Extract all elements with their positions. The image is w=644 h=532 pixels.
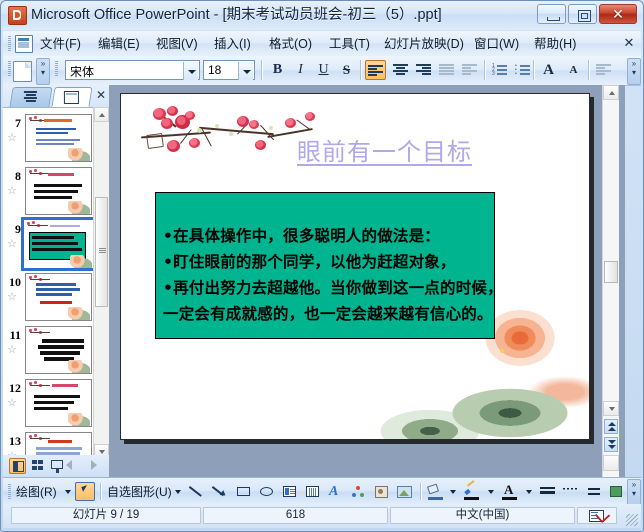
menu-grip[interactable] [8, 36, 11, 51]
font-size-dropdown-arrow[interactable] [238, 62, 253, 80]
next-slide-double-arrow[interactable] [604, 437, 618, 452]
line-button[interactable] [187, 482, 207, 501]
font-size-combo[interactable]: 18 [203, 60, 255, 80]
thumbnail-scrollbar[interactable] [93, 107, 109, 459]
thumbnail-image[interactable] [25, 273, 92, 321]
content-text-box[interactable]: •在具体操作中，很多聪明人的做法是： •盯住眼前的那个同学，以他为赶超对象， •… [155, 192, 495, 339]
normal-view-button[interactable] [9, 458, 26, 474]
window-title: Microsoft Office PowerPoint - [期末考试动员班会-… [31, 4, 442, 26]
thumbnail-number: 10 [5, 275, 21, 290]
shadow-style-icon [610, 486, 622, 497]
vertical-text-box-button[interactable] [302, 482, 322, 501]
pane-tab-strip: ✕ [3, 85, 109, 107]
resize-grip[interactable] [626, 514, 638, 526]
slides-pane: ✕ 7 ☆ [3, 85, 109, 477]
menu-item-window[interactable]: 窗口(W) [471, 35, 522, 53]
slide-show-button[interactable] [49, 458, 66, 474]
drawbar-separator-1 [100, 483, 102, 500]
minimize-icon [547, 17, 560, 21]
design-template-field: 618 [203, 507, 388, 524]
arrow-button[interactable] [210, 482, 230, 501]
slide-sorter-icon [32, 460, 44, 471]
drawbar-separator-2 [420, 483, 422, 500]
view-button-bar [3, 455, 109, 477]
menu-item-insert[interactable]: 插入(I) [211, 35, 254, 53]
toolbar-separator-5 [588, 60, 590, 80]
insert-wordart-button[interactable]: A [325, 482, 345, 501]
toolbar-grip-1[interactable] [8, 61, 11, 76]
list-item[interactable]: 11 ☆ [3, 324, 95, 371]
align-justify-button[interactable] [436, 60, 457, 80]
chevron-up-icon [99, 113, 105, 117]
thumbnail-number: 13 [5, 434, 21, 449]
line-icon [190, 486, 204, 497]
toolbar-separator-2 [360, 60, 362, 80]
thumbnail-image[interactable] [25, 379, 92, 427]
line-style-button[interactable] [537, 482, 557, 501]
shadow-button[interactable]: S [336, 60, 357, 80]
line-spacing-button[interactable] [459, 60, 480, 80]
insert-picture-button[interactable] [394, 482, 414, 501]
scroll-up-button[interactable] [94, 107, 109, 122]
rectangle-icon [237, 487, 250, 496]
spell-check-icon [589, 510, 604, 522]
insert-diagram-button[interactable] [348, 482, 368, 501]
numbered-list-icon: 123 [492, 64, 507, 76]
toolbar-overflow-button-1[interactable]: »▾ [36, 58, 50, 85]
font-name-value: 宋体 [70, 63, 94, 80]
thumbnail-number: 11 [5, 328, 21, 343]
dash-style-icon [563, 488, 578, 495]
drawbar-overflow-button[interactable]: »▾ [627, 479, 641, 506]
sun-dot-icon [500, 349, 504, 353]
toolbar-separator-4 [533, 60, 535, 80]
font-color-a-icon: A [504, 483, 513, 496]
bold-button[interactable]: B [267, 60, 288, 80]
text-box-icon [283, 486, 296, 497]
menu-item-file[interactable]: 文件(F) [37, 35, 84, 53]
spell-check-button[interactable] [577, 507, 617, 524]
animation-star-icon: ☆ [7, 344, 21, 357]
animation-star-icon: ☆ [7, 238, 21, 251]
slide-vertical-scrollbar[interactable] [602, 85, 619, 477]
slide-sorter-view-button[interactable] [29, 458, 46, 474]
maximize-button[interactable] [568, 4, 597, 24]
language-indicator: 中文(中国) [390, 507, 575, 524]
maximize-icon [578, 10, 591, 22]
align-right-button[interactable] [413, 60, 434, 80]
bulleted-list-icon: ••• [515, 64, 530, 76]
line-spacing-icon [462, 64, 477, 76]
animation-star-icon: ☆ [7, 132, 21, 145]
align-right-icon [416, 64, 431, 76]
chevron-down-icon[interactable] [450, 490, 456, 494]
document-icon [15, 35, 33, 53]
menu-item-view[interactable]: 视图(V) [153, 35, 201, 53]
minimize-button[interactable] [537, 4, 566, 24]
draw-menu-button[interactable]: 绘图(R) [16, 484, 57, 500]
chevron-down-icon[interactable] [488, 490, 494, 494]
next-slide-button[interactable] [91, 460, 97, 470]
decrease-indent-icon [596, 64, 611, 76]
slide-title[interactable]: 眼前有一个目标 [297, 132, 577, 167]
autoshapes-menu-button[interactable]: 自选图形(U) [107, 484, 172, 500]
underline-button[interactable]: U [313, 60, 334, 80]
font-name-dropdown-arrow[interactable] [183, 62, 198, 80]
font-color-button[interactable]: A [500, 482, 522, 501]
oval-button[interactable] [256, 482, 276, 501]
toolbar-separator-3 [484, 60, 486, 80]
title-bar: Microsoft Office PowerPoint - [期末考试动员班会-… [0, 0, 644, 30]
menu-item-slideshow[interactable]: 幻灯片放映(D) [381, 35, 467, 53]
drawing-toolbar: 绘图(R) 自选图形(U) A A [3, 477, 641, 505]
rectangle-button[interactable] [233, 482, 253, 501]
pen-icon [465, 485, 477, 495]
text-box-button[interactable] [279, 482, 299, 501]
menu-item-tools[interactable]: 工具(T) [326, 35, 373, 53]
align-left-button[interactable] [365, 60, 386, 80]
dash-style-button[interactable] [560, 482, 580, 501]
chevron-down-icon [188, 70, 196, 74]
slide-show-from-here-button[interactable] [603, 455, 619, 471]
menu-bar: 文件(F) 编辑(E) 视图(V) 插入(I) 格式(O) 工具(T) 幻灯片放… [3, 31, 641, 57]
decrease-font-size-button[interactable]: A [563, 60, 584, 80]
toolbar-grip-2[interactable] [55, 61, 58, 76]
menu-item-edit[interactable]: 编辑(E) [95, 35, 143, 53]
slides-tab[interactable] [51, 87, 92, 107]
content-line-1: •在具体操作中，很多聪明人的做法是： [163, 224, 494, 246]
animation-star-icon: ☆ [7, 291, 21, 304]
content-line-3: •再付出努力去超越他。当你做到这一点的时候， [163, 276, 494, 298]
slide-scrollbar-thumb[interactable] [604, 261, 618, 283]
thumbnail-image[interactable] [25, 326, 92, 374]
list-item[interactable]: 8 ☆ [3, 165, 95, 212]
font-color-swatch [502, 497, 517, 500]
powerpoint-icon [8, 6, 27, 25]
list-item[interactable]: 10 ☆ [3, 271, 95, 318]
fill-color-swatch [428, 497, 443, 500]
cursor-arrow-icon [81, 485, 88, 492]
increase-font-size-button[interactable]: A [538, 60, 559, 80]
content-line-2: •盯住眼前的那个同学，以他为赶超对象， [163, 250, 494, 272]
fill-bucket-icon [428, 485, 441, 496]
numbering-button[interactable]: 123 [489, 60, 510, 80]
align-center-button[interactable] [390, 60, 411, 80]
chevron-down-icon [99, 450, 105, 454]
slide-scroll-down-button[interactable] [603, 401, 619, 416]
drawbar-grip[interactable] [8, 484, 11, 499]
toolbar-separator-1 [261, 60, 263, 80]
thumbnail-number: 8 [5, 169, 21, 184]
shadow-style-button[interactable] [606, 482, 626, 501]
animation-star-icon: ☆ [7, 185, 21, 198]
content-line-4: 一定会有成就感的，也一定会越来越有信心的。 [163, 302, 494, 324]
arrow-style-button[interactable] [583, 482, 603, 501]
toolbar-overflow-button-2[interactable]: »▾ [627, 58, 641, 85]
arrow-icon [213, 486, 227, 497]
close-icon: ✕ [600, 5, 636, 23]
chevron-down-icon[interactable] [175, 490, 181, 494]
align-justify-icon [439, 64, 454, 76]
list-item[interactable]: 9 ☆ [3, 218, 95, 265]
thumbnail-image-selected[interactable] [21, 217, 96, 271]
font-size-value: 18 [208, 63, 221, 77]
thumbnail-number: 12 [5, 381, 21, 396]
slide-indicator: 幻灯片 9 / 19 [11, 507, 201, 524]
slide-edit-area[interactable]: 眼前有一个目标 •在具体操作中，很多聪明人的做法是： •盯住眼前的那个同学，以他… [109, 85, 625, 477]
fill-color-button[interactable] [426, 482, 448, 501]
menu-item-format[interactable]: 格式(O) [266, 35, 315, 53]
status-bar: 幻灯片 9 / 19 618 中文(中国) [3, 504, 641, 528]
close-document-button[interactable]: ✕ [622, 35, 636, 51]
slide-scroll-up-button[interactable] [603, 85, 619, 100]
chevron-down-icon[interactable] [65, 490, 71, 494]
bullets-button[interactable]: ••• [512, 60, 533, 80]
new-document-button[interactable] [13, 61, 32, 82]
slides-icon [64, 91, 79, 104]
line-color-button[interactable] [462, 482, 484, 501]
close-pane-button[interactable]: ✕ [95, 88, 107, 102]
scrollbar-thumb[interactable] [95, 197, 108, 307]
align-left-icon [368, 65, 383, 77]
font-name-combo[interactable]: 宋体 [65, 60, 200, 80]
wordart-icon: A [329, 485, 338, 499]
outline-icon [23, 91, 38, 104]
picture-icon [397, 486, 412, 498]
animation-star-icon: ☆ [7, 397, 21, 410]
insert-clip-art-button[interactable] [371, 482, 391, 501]
powerpoint-window: Microsoft Office PowerPoint - [期末考试动员班会-… [0, 0, 644, 532]
slide-canvas[interactable]: 眼前有一个目标 •在具体操作中，很多聪明人的做法是： •盯住眼前的那个同学，以他… [120, 93, 590, 440]
formatting-toolbar: »▾ 宋体 18 B I U S 12 [3, 56, 641, 86]
list-item[interactable]: 12 ☆ [3, 377, 95, 424]
chevron-down-icon [243, 70, 251, 74]
decrease-indent-button[interactable] [593, 60, 614, 80]
normal-view-icon [13, 461, 24, 472]
chevron-down-icon[interactable] [526, 490, 532, 494]
slide-show-icon [51, 460, 63, 469]
thumbnail-image[interactable] [25, 114, 92, 162]
clip-art-icon [375, 486, 388, 498]
align-center-icon [393, 64, 408, 76]
thumbnail-number: 7 [5, 116, 21, 131]
line-color-swatch [464, 497, 479, 500]
list-item[interactable]: 7 ☆ [3, 112, 95, 159]
menu-item-help[interactable]: 帮助(H) [531, 35, 579, 53]
arrow-style-icon [586, 486, 601, 497]
previous-slide-double-arrow[interactable] [604, 419, 618, 434]
thumbnail-number: 9 [5, 222, 21, 237]
select-objects-button[interactable] [75, 482, 95, 501]
line-style-icon [540, 487, 555, 496]
thumbnail-image[interactable] [25, 167, 92, 215]
chevron-up-icon [609, 91, 615, 95]
italic-button[interactable]: I [290, 60, 311, 80]
chevron-down-icon [609, 407, 615, 411]
vertical-text-box-icon [306, 486, 319, 497]
close-button[interactable]: ✕ [599, 4, 637, 24]
previous-slide-button[interactable] [66, 460, 72, 470]
outline-tab[interactable] [9, 87, 52, 107]
oval-icon [260, 487, 273, 496]
diagram-icon [352, 486, 365, 498]
